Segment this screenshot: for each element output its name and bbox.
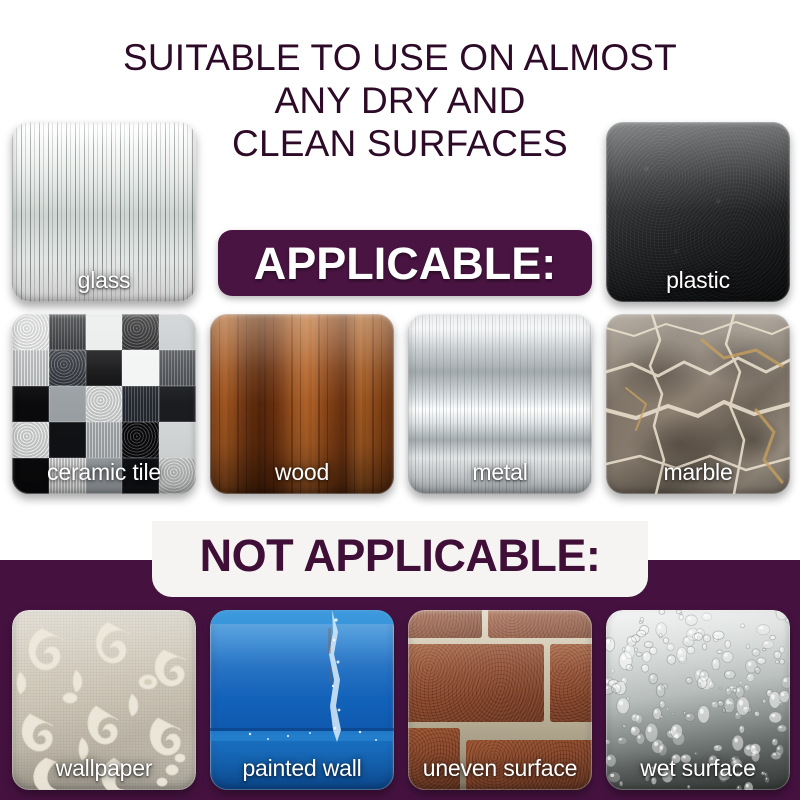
tile-label-uneven-surface: uneven surface	[408, 755, 592, 782]
tile-painted-wall: painted wall	[210, 610, 394, 790]
applicable-banner: APPLICABLE:	[218, 230, 592, 296]
tile-label-wallpaper: wallpaper	[12, 755, 196, 782]
tile-uneven-surface: uneven surface	[408, 610, 592, 790]
tile-label-painted-wall: painted wall	[210, 755, 394, 782]
tile-label-glass: glass	[12, 267, 196, 294]
tile-wet-surface: wet surface	[606, 610, 790, 790]
tile-metal: metal	[408, 314, 592, 494]
tile-wallpaper: wallpaper	[12, 610, 196, 790]
not-applicable-banner-label: NOT APPLICABLE:	[200, 533, 601, 578]
tile-label-wood: wood	[210, 459, 394, 486]
applicable-banner-label: APPLICABLE:	[254, 241, 557, 286]
infographic-root: SUITABLE TO USE ON ALMOST ANY DRY AND CL…	[0, 0, 800, 800]
tile-plastic: plastic	[606, 122, 790, 302]
tile-marble: marble	[606, 314, 790, 494]
tile-wood: wood	[210, 314, 394, 494]
tile-label-marble: marble	[606, 459, 790, 486]
tile-label-plastic: plastic	[606, 267, 790, 294]
page-title-line-2: ANY DRY AND	[0, 79, 800, 122]
tile-label-metal: metal	[408, 459, 592, 486]
tile-label-ceramic-tile: ceramic tile	[12, 459, 196, 486]
tile-glass: glass	[12, 122, 196, 302]
tile-ceramic: ceramic tile	[12, 314, 196, 494]
not-applicable-banner: NOT APPLICABLE:	[152, 521, 648, 597]
page-title-line-1: SUITABLE TO USE ON ALMOST	[0, 36, 800, 79]
tile-label-wet-surface: wet surface	[606, 755, 790, 782]
